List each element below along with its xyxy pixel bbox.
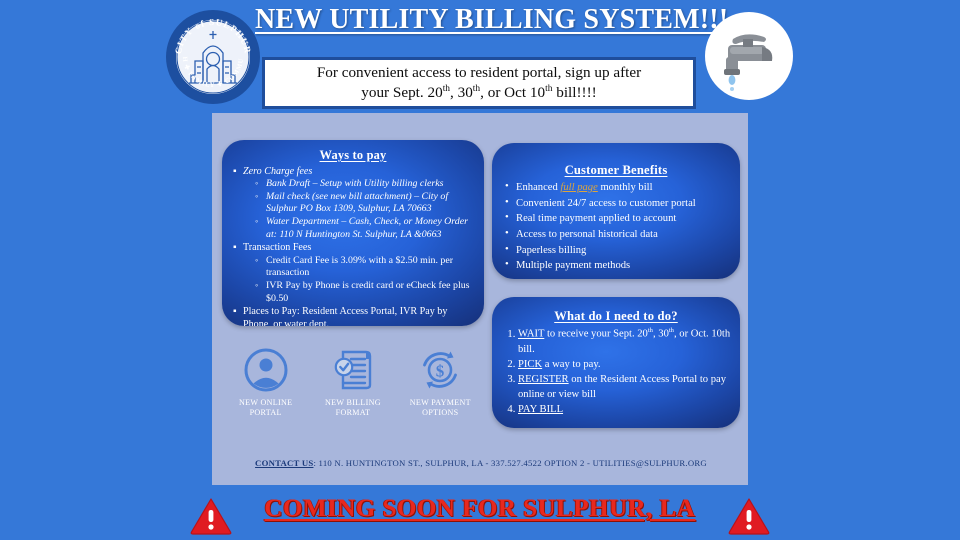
feature-1-line1: NEW BILLING: [325, 398, 381, 407]
list-item: ▪ Transaction Fees ◦Credit Card Fee is 3…: [232, 241, 476, 305]
ways-item-0-sublist: ◦Bank Draft – Setup with Utility billing…: [243, 178, 476, 241]
city-of-sulphur-seal-logo: CITY of SULPHUR FAITH ✚ FAMILY ✚ COMMUNI…: [165, 9, 261, 105]
ways-item-0-sub-1: Mail check (see new bill attachment) – C…: [266, 191, 448, 215]
what-do-i-need-to-do-box: What do I need to do? WAIT to receive yo…: [492, 297, 740, 428]
coming-soon-banner-text: COMING SOON FOR SULPHUR, LA: [240, 495, 720, 523]
feature-0-line1: NEW ONLINE: [239, 398, 292, 407]
list-item: ▪ Zero Charge fees ◦Bank Draft – Setup w…: [232, 165, 476, 241]
what-to-do-title: What do I need to do?: [492, 297, 740, 324]
warning-triangle-icon: [728, 497, 770, 535]
callout-line-1: For convenient access to resident portal…: [317, 64, 641, 81]
list-item: ◦Bank Draft – Setup with Utility billing…: [255, 178, 476, 191]
bullet-icon: •: [505, 257, 509, 273]
list-item: •Convenient 24/7 access to customer port…: [504, 196, 734, 212]
feature-new-payment-options: $ NEW PAYMENT OPTIONS: [399, 344, 481, 418]
list-item: ◦Mail check (see new bill attachment) – …: [255, 191, 476, 216]
contact-us-label: CONTACT US: [255, 458, 313, 468]
callout-sup-1: th: [443, 84, 450, 94]
callout-line-2a: your Sept. 20: [361, 84, 442, 101]
warning-triangle-icon: [190, 497, 232, 535]
svg-text:$: $: [436, 362, 445, 381]
hollow-bullet-icon: ◦: [255, 280, 258, 292]
callout-line-2c: , or Oct 10: [480, 84, 545, 101]
step-1-keyword: PICK: [518, 359, 542, 370]
dollar-refresh-arrows-icon: $: [399, 344, 481, 396]
step-0-rest-b: , 30: [653, 329, 669, 340]
benefit-4-text: Paperless billing: [516, 245, 586, 256]
bullet-icon: ▪: [233, 241, 237, 254]
list-item: REGISTER on the Resident Access Portal t…: [518, 372, 734, 402]
list-item: •Access to personal historical data: [504, 227, 734, 243]
list-item: •Enhanced full page monthly bill: [504, 180, 734, 196]
ways-item-0-sub-0: Bank Draft – Setup with Utility billing …: [266, 178, 443, 189]
list-item: •Paperless billing: [504, 243, 734, 259]
feature-2-line1: NEW PAYMENT: [410, 398, 471, 407]
bullet-icon: •: [505, 226, 509, 242]
feature-1-line2: FORMAT: [336, 408, 371, 417]
ways-to-pay-box: Ways to pay ▪ Zero Charge fees ◦Bank Dra…: [222, 140, 484, 326]
benefit-2-text: Real time payment applied to account: [516, 213, 676, 224]
benefit-0-pre: Enhanced: [516, 182, 560, 193]
contact-line: CONTACT US: 110 N. HUNTINGTON ST., SULPH…: [222, 458, 740, 468]
list-item: ◦Water Department – Cash, Check, or Mone…: [255, 216, 476, 241]
bullet-icon: •: [505, 195, 509, 211]
feature-0-caption: NEW ONLINE PORTAL: [225, 398, 307, 418]
feature-2-line2: OPTIONS: [422, 408, 458, 417]
step-0-keyword: WAIT: [518, 329, 544, 340]
user-account-circle-icon: [225, 344, 307, 396]
bill-document-check-icon: [312, 344, 394, 396]
signup-callout-box: For convenient access to resident portal…: [262, 57, 696, 109]
bullet-icon: •: [505, 210, 509, 226]
benefit-3-text: Access to personal historical data: [516, 229, 658, 240]
what-to-do-list: WAIT to receive your Sept. 20th, 30th, o…: [492, 326, 740, 417]
ways-to-pay-list: ▪ Zero Charge fees ◦Bank Draft – Setup w…: [222, 165, 484, 326]
page-title: NEW UTILITY BILLING SYSTEM!!!: [255, 4, 705, 36]
ways-item-0-label: Zero Charge fees: [243, 166, 312, 177]
benefit-1-text: Convenient 24/7 access to customer porta…: [516, 198, 696, 209]
list-item: •Real time payment applied to account: [504, 211, 734, 227]
callout-line-2d: bill!!!!: [552, 84, 596, 101]
dripping-faucet-icon: [702, 9, 796, 103]
list-item: •Multiple payment methods: [504, 258, 734, 274]
benefit-0-highlight: full page: [560, 182, 597, 193]
hollow-bullet-icon: ◦: [255, 255, 258, 267]
callout-line-2b: , 30: [450, 84, 473, 101]
bullet-icon: •: [505, 179, 509, 195]
contact-details: : 110 N. HUNTINGTON ST., SULPHUR, LA - 3…: [313, 458, 706, 468]
callout-text: For convenient access to resident portal…: [311, 63, 647, 103]
customer-benefits-box: Customer Benefits •Enhanced full page mo…: [492, 143, 740, 279]
step-0-rest-a: to receive your Sept. 20: [544, 329, 648, 340]
ways-item-1-sublist: ◦Credit Card Fee is 3.09% with a $2.50 m…: [243, 255, 476, 306]
step-3-keyword: PAY BILL: [518, 404, 563, 415]
feature-2-caption: NEW PAYMENT OPTIONS: [399, 398, 481, 418]
feature-1-caption: NEW BILLING FORMAT: [312, 398, 394, 418]
list-item: ▪ Places to Pay: Resident Access Portal,…: [232, 305, 476, 326]
ways-item-1-sub-0: Credit Card Fee is 3.09% with a $2.50 mi…: [266, 255, 453, 279]
hollow-bullet-icon: ◦: [255, 178, 258, 190]
ways-to-pay-title: Ways to pay: [222, 140, 484, 163]
poster-root: CITY of SULPHUR FAITH ✚ FAMILY ✚ COMMUNI…: [0, 0, 960, 540]
list-item: ◦IVR Pay by Phone is credit card or eChe…: [255, 280, 476, 305]
hollow-bullet-icon: ◦: [255, 191, 258, 203]
feature-0-line2: PORTAL: [250, 408, 282, 417]
benefit-0-post: monthly bill: [598, 182, 653, 193]
customer-benefits-title: Customer Benefits: [492, 143, 740, 178]
list-item: PICK a way to pay.: [518, 357, 734, 372]
feature-new-online-portal: NEW ONLINE PORTAL: [225, 344, 307, 418]
feature-icons-row: NEW ONLINE PORTAL: [222, 344, 484, 428]
ways-item-1-label: Transaction Fees: [243, 242, 311, 253]
step-1-rest-a: a way to pay.: [542, 359, 600, 370]
feature-new-billing-format: NEW BILLING FORMAT: [312, 344, 394, 418]
ways-item-2-label: Places to Pay: Resident Access Portal, I…: [243, 306, 447, 326]
ways-item-1-sub-1: IVR Pay by Phone is credit card or eChec…: [266, 280, 469, 304]
bullet-icon: ▪: [233, 305, 237, 318]
hollow-bullet-icon: ◦: [255, 216, 258, 228]
ways-item-0-sub-2: Water Department – Cash, Check, or Money…: [266, 216, 468, 240]
list-item: WAIT to receive your Sept. 20th, 30th, o…: [518, 326, 734, 357]
benefit-5-text: Multiple payment methods: [516, 260, 630, 271]
list-item: PAY BILL: [518, 402, 734, 417]
bullet-icon: ▪: [233, 165, 237, 178]
customer-benefits-list: •Enhanced full page monthly bill •Conven…: [492, 180, 740, 274]
step-2-keyword: REGISTER: [518, 374, 569, 385]
bullet-icon: •: [505, 242, 509, 258]
list-item: ◦Credit Card Fee is 3.09% with a $2.50 m…: [255, 255, 476, 280]
